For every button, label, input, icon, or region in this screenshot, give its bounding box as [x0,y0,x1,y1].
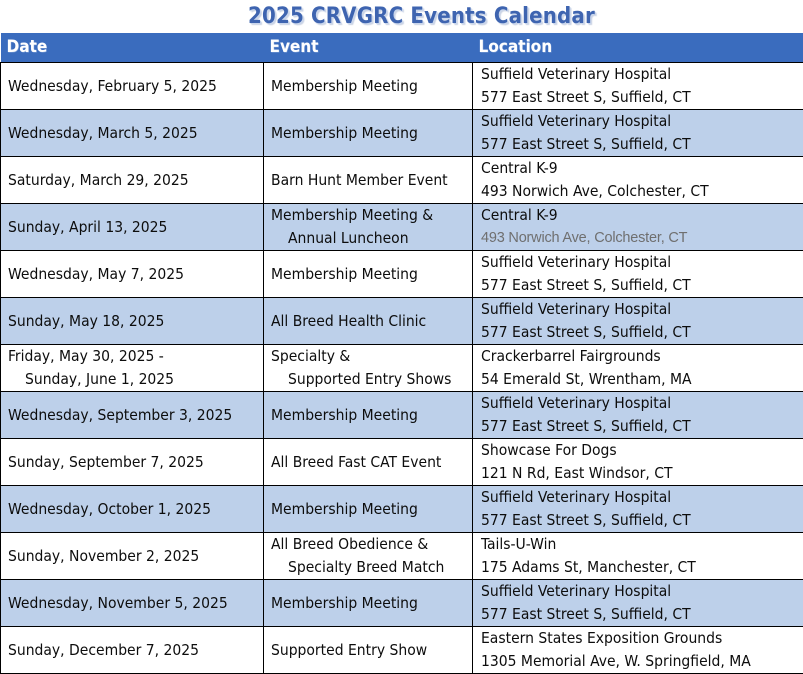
table-row: Wednesday, October 1, 2025Membership Mee… [1,486,803,533]
cell-date-line-1: Friday, May 30, 2025 - [8,345,257,368]
cell-event-line-1: Membership Meeting [271,592,466,615]
cell-date-line-1: Sunday, April 13, 2025 [8,216,257,239]
cell-date-line-1: Sunday, December 7, 2025 [8,639,257,662]
cell-location-line-1: Suffield Veterinary Hospital [481,392,797,415]
cell-date: Wednesday, February 5, 2025 [1,63,264,110]
cell-date-line-1: Saturday, March 29, 2025 [8,169,257,192]
cell-location-content: Suffield Veterinary Hospital577 East Str… [473,486,803,532]
page-title: 2025 CRVGRC Events Calendar [248,4,595,29]
cell-location: Central K-9493 Norwich Ave, Colchester, … [473,157,803,204]
cell-event-content: All Breed Fast CAT Event [264,451,472,474]
cell-date-line-1: Wednesday, March 5, 2025 [8,122,257,145]
table-row: Saturday, March 29, 2025Barn Hunt Member… [1,157,803,204]
cell-location-line-2: 493 Norwich Ave, Colchester, CT [481,180,797,203]
cell-location-content: Suffield Veterinary Hospital577 East Str… [473,63,803,109]
cell-location: Tails-U-Win175 Adams St, Manchester, CT [473,533,803,580]
cell-event-line-1: Supported Entry Show [271,639,466,662]
cell-event-line-1: Membership Meeting [271,122,466,145]
cell-date-content: Sunday, December 7, 2025 [1,639,263,662]
cell-event: Membership Meeting [264,63,473,110]
cell-date-line-1: Wednesday, October 1, 2025 [8,498,257,521]
column-header-date: Date [1,33,264,63]
table-row: Friday, May 30, 2025 -Sunday, June 1, 20… [1,345,803,392]
cell-location-line-1: Eastern States Exposition Grounds [481,627,797,650]
cell-location-content: Showcase For Dogs121 N Rd, East Windsor,… [473,439,803,485]
cell-date-content: Saturday, March 29, 2025 [1,169,263,192]
cell-event-content: Barn Hunt Member Event [264,169,472,192]
cell-location: Showcase For Dogs121 N Rd, East Windsor,… [473,439,803,486]
cell-date-line-2: Sunday, June 1, 2025 [8,368,257,391]
cell-date-line-1: Sunday, September 7, 2025 [8,451,257,474]
cell-date-line-1: Wednesday, February 5, 2025 [8,75,257,98]
cell-location-line-2: 577 East Street S, Suffield, CT [481,509,797,532]
cell-event: Membership Meeting [264,392,473,439]
cell-location-line-2: 577 East Street S, Suffield, CT [481,415,797,438]
cell-event: Membership Meeting [264,580,473,627]
cell-date: Wednesday, September 3, 2025 [1,392,264,439]
cell-event-content: All Breed Obedience &Specialty Breed Mat… [264,533,472,579]
cell-date-content: Wednesday, September 3, 2025 [1,404,263,427]
cell-event-line-1: All Breed Obedience & [271,533,466,556]
cell-location-line-1: Suffield Veterinary Hospital [481,251,797,274]
title-bar: 2025 CRVGRC Events Calendar [0,0,803,33]
cell-event: Membership Meeting [264,486,473,533]
cell-date-line-1: Sunday, November 2, 2025 [8,545,257,568]
cell-event-line-2: Supported Entry Shows [271,368,466,391]
table-row: Sunday, November 2, 2025All Breed Obedie… [1,533,803,580]
table-row: Wednesday, November 5, 2025Membership Me… [1,580,803,627]
cell-date-content: Sunday, April 13, 2025 [1,216,263,239]
cell-location: Crackerbarrel Fairgrounds54 Emerald St, … [473,345,803,392]
cell-date: Saturday, March 29, 2025 [1,157,264,204]
cell-location-content: Suffield Veterinary Hospital577 East Str… [473,580,803,626]
cell-location: Central K-9493 Norwich Ave, Colchester, … [473,204,803,251]
cell-location-content: Suffield Veterinary Hospital577 East Str… [473,392,803,438]
cell-event-content: Specialty &Supported Entry Shows [264,345,472,391]
cell-location-content: Eastern States Exposition Grounds1305 Me… [473,627,803,673]
cell-event-content: Membership Meeting [264,75,472,98]
cell-date-content: Sunday, September 7, 2025 [1,451,263,474]
cell-location: Suffield Veterinary Hospital577 East Str… [473,298,803,345]
cell-date-content: Friday, May 30, 2025 -Sunday, June 1, 20… [1,345,263,391]
cell-location: Suffield Veterinary Hospital577 East Str… [473,580,803,627]
cell-location: Suffield Veterinary Hospital577 East Str… [473,392,803,439]
table-row: Wednesday, May 7, 2025Membership Meeting… [1,251,803,298]
cell-date: Wednesday, May 7, 2025 [1,251,264,298]
cell-location-line-2: 577 East Street S, Suffield, CT [481,86,797,109]
cell-event-content: Supported Entry Show [264,639,472,662]
cell-event-line-1: Membership Meeting [271,404,466,427]
cell-location-line-1: Central K-9 [481,157,797,180]
cell-event: Membership Meeting &Annual Luncheon [264,204,473,251]
cell-event: All Breed Fast CAT Event [264,439,473,486]
cell-location-line-1: Suffield Veterinary Hospital [481,486,797,509]
cell-date: Sunday, April 13, 2025 [1,204,264,251]
cell-location-content: Suffield Veterinary Hospital577 East Str… [473,298,803,344]
events-calendar-table: Date Event Location Wednesday, February … [0,33,803,674]
cell-location-line-1: Tails-U-Win [481,533,797,556]
table-row: Wednesday, March 5, 2025Membership Meeti… [1,110,803,157]
cell-event: All Breed Health Clinic [264,298,473,345]
cell-location: Suffield Veterinary Hospital577 East Str… [473,486,803,533]
cell-event-line-1: All Breed Health Clinic [271,310,466,333]
cell-location-line-1: Suffield Veterinary Hospital [481,298,797,321]
cell-event-line-2: Specialty Breed Match [271,556,466,579]
cell-event-content: Membership Meeting [264,404,472,427]
cell-date: Sunday, December 7, 2025 [1,627,264,674]
cell-date-content: Wednesday, October 1, 2025 [1,498,263,521]
cell-event-line-1: Membership Meeting [271,263,466,286]
cell-location-line-1: Suffield Veterinary Hospital [481,110,797,133]
cell-event-content: Membership Meeting [264,498,472,521]
table-row: Wednesday, February 5, 2025Membership Me… [1,63,803,110]
cell-date: Wednesday, March 5, 2025 [1,110,264,157]
cell-event-content: Membership Meeting [264,122,472,145]
cell-location-line-1: Crackerbarrel Fairgrounds [481,345,797,368]
cell-location-line-2: 493 Norwich Ave, Colchester, CT [481,227,797,250]
cell-date: Sunday, November 2, 2025 [1,533,264,580]
cell-location-content: Crackerbarrel Fairgrounds54 Emerald St, … [473,345,803,391]
table-row: Sunday, April 13, 2025Membership Meeting… [1,204,803,251]
cell-date-line-1: Wednesday, September 3, 2025 [8,404,257,427]
cell-event: Membership Meeting [264,251,473,298]
cell-event: All Breed Obedience &Specialty Breed Mat… [264,533,473,580]
cell-location: Suffield Veterinary Hospital577 East Str… [473,251,803,298]
cell-date-content: Sunday, May 18, 2025 [1,310,263,333]
cell-event-content: Membership Meeting [264,592,472,615]
cell-event: Specialty &Supported Entry Shows [264,345,473,392]
cell-event-content: Membership Meeting [264,263,472,286]
cell-event: Membership Meeting [264,110,473,157]
cell-location-line-1: Central K-9 [481,204,797,227]
cell-event-line-1: Barn Hunt Member Event [271,169,466,192]
cell-location-line-1: Suffield Veterinary Hospital [481,580,797,603]
cell-event-line-1: Specialty & [271,345,466,368]
cell-event-line-1: Membership Meeting & [271,204,466,227]
cell-event-content: Membership Meeting &Annual Luncheon [264,204,472,250]
cell-location-line-1: Showcase For Dogs [481,439,797,462]
header-row: Date Event Location [1,33,803,63]
cell-date-content: Wednesday, November 5, 2025 [1,592,263,615]
cell-event-line-1: All Breed Fast CAT Event [271,451,466,474]
cell-date-line-1: Sunday, May 18, 2025 [8,310,257,333]
column-header-location: Location [473,33,803,63]
cell-date-content: Wednesday, February 5, 2025 [1,75,263,98]
cell-event: Supported Entry Show [264,627,473,674]
cell-date: Sunday, September 7, 2025 [1,439,264,486]
column-header-event: Event [264,33,473,63]
cell-location-content: Suffield Veterinary Hospital577 East Str… [473,110,803,156]
table-row: Wednesday, September 3, 2025Membership M… [1,392,803,439]
table-row: Sunday, May 18, 2025All Breed Health Cli… [1,298,803,345]
cell-date: Friday, May 30, 2025 -Sunday, June 1, 20… [1,345,264,392]
cell-location-line-1: Suffield Veterinary Hospital [481,63,797,86]
cell-date-content: Wednesday, March 5, 2025 [1,122,263,145]
cell-date: Sunday, May 18, 2025 [1,298,264,345]
cell-date: Wednesday, November 5, 2025 [1,580,264,627]
cell-date-content: Sunday, November 2, 2025 [1,545,263,568]
table-row: Sunday, December 7, 2025Supported Entry … [1,627,803,674]
cell-date: Wednesday, October 1, 2025 [1,486,264,533]
cell-date-line-1: Wednesday, May 7, 2025 [8,263,257,286]
cell-date-line-1: Wednesday, November 5, 2025 [8,592,257,615]
cell-location: Eastern States Exposition Grounds1305 Me… [473,627,803,674]
cell-location: Suffield Veterinary Hospital577 East Str… [473,110,803,157]
cell-location-line-2: 54 Emerald St, Wrentham, MA [481,368,797,391]
cell-location-content: Central K-9493 Norwich Ave, Colchester, … [473,204,803,250]
cell-event-line-1: Membership Meeting [271,75,466,98]
cell-location-line-2: 577 East Street S, Suffield, CT [481,603,797,626]
table-header: Date Event Location [1,33,803,63]
cell-location-content: Tails-U-Win175 Adams St, Manchester, CT [473,533,803,579]
cell-event: Barn Hunt Member Event [264,157,473,204]
cell-event-line-1: Membership Meeting [271,498,466,521]
table-body: Wednesday, February 5, 2025Membership Me… [1,63,803,674]
cell-location-line-2: 121 N Rd, East Windsor, CT [481,462,797,485]
table-row: Sunday, September 7, 2025All Breed Fast … [1,439,803,486]
cell-location-line-2: 175 Adams St, Manchester, CT [481,556,797,579]
cell-location-content: Central K-9493 Norwich Ave, Colchester, … [473,157,803,203]
cell-location: Suffield Veterinary Hospital577 East Str… [473,63,803,110]
cell-location-line-2: 577 East Street S, Suffield, CT [481,274,797,297]
cell-location-line-2: 577 East Street S, Suffield, CT [481,321,797,344]
cell-event-line-2: Annual Luncheon [271,227,466,250]
cell-date-content: Wednesday, May 7, 2025 [1,263,263,286]
calendar-page: 2025 CRVGRC Events Calendar Date Event L… [0,0,803,662]
cell-event-content: All Breed Health Clinic [264,310,472,333]
cell-location-content: Suffield Veterinary Hospital577 East Str… [473,251,803,297]
cell-location-line-2: 577 East Street S, Suffield, CT [481,133,797,156]
